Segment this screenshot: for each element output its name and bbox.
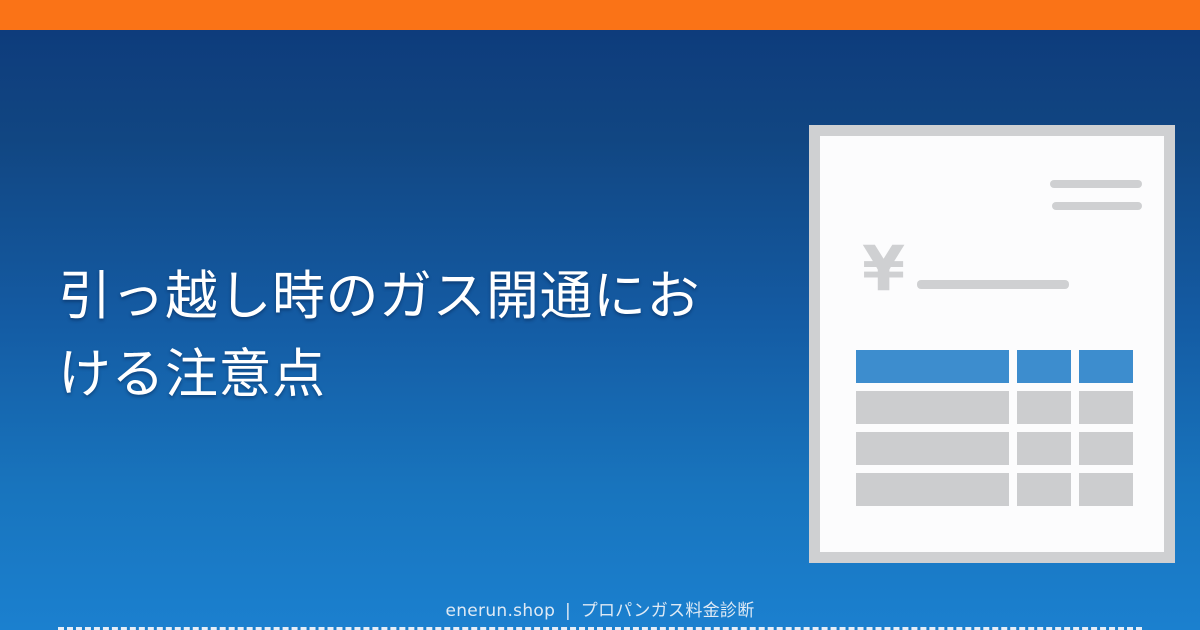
table-cell (856, 391, 1009, 424)
document-page: ¥ (820, 136, 1164, 552)
table-cell (856, 473, 1009, 506)
table-cell (1079, 473, 1133, 506)
document-header-line-1 (1050, 180, 1142, 188)
gas-bill-document-illustration: ¥ (809, 125, 1175, 563)
og-image-canvas: 引っ越し時のガス開通における注意点 ¥ (0, 0, 1200, 630)
document-header-line-2 (1052, 202, 1142, 210)
table-header-cell (1017, 350, 1071, 383)
table-cell (1017, 432, 1071, 465)
footer-site-name: enerun.shop (445, 601, 555, 621)
amount-placeholder-bar (917, 280, 1069, 289)
table-row (856, 473, 1138, 506)
footer-separator: | (561, 601, 575, 621)
table-cell (856, 432, 1009, 465)
footer-tagline: プロパンガス料金診断 (581, 601, 755, 621)
table-header-cell (856, 350, 1009, 383)
title-block: 引っ越し時のガス開通における注意点 (58, 258, 748, 414)
page-title: 引っ越し時のガス開通における注意点 (58, 258, 748, 414)
table-row (856, 391, 1138, 424)
yen-icon: ¥ (862, 238, 905, 300)
document-table (856, 350, 1138, 506)
footer-branding: enerun.shop | プロパンガス料金診断 (0, 600, 1200, 622)
table-header-row (856, 350, 1138, 383)
amount-row: ¥ (862, 250, 1112, 306)
table-header-cell (1079, 350, 1133, 383)
table-row (856, 432, 1138, 465)
table-cell (1017, 391, 1071, 424)
table-cell (1017, 473, 1071, 506)
table-cell (1079, 391, 1133, 424)
hero-panel: 引っ越し時のガス開通における注意点 ¥ (0, 30, 1200, 630)
top-accent-bar (0, 0, 1200, 30)
table-cell (1079, 432, 1133, 465)
